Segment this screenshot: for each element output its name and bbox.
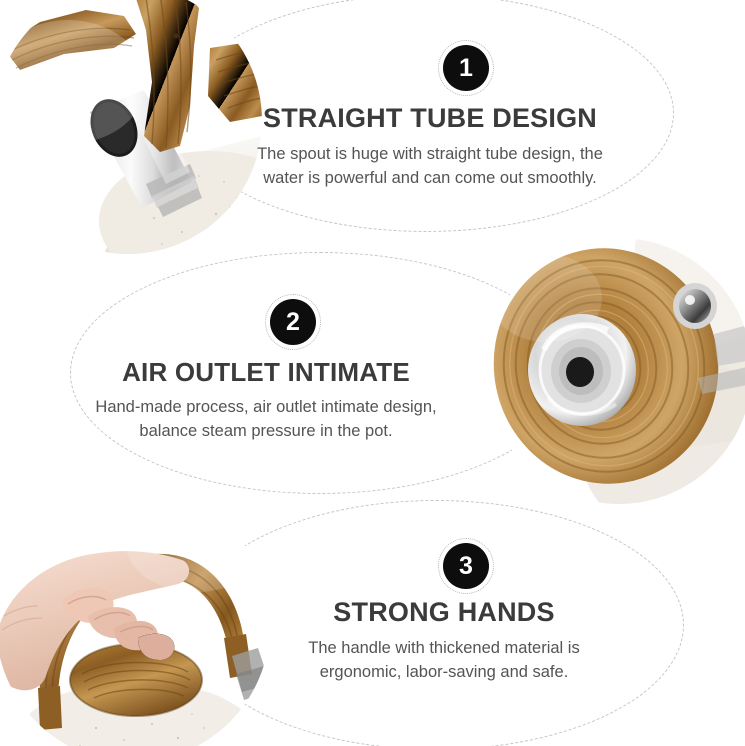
kettle-air-outlet-photo [486,238,745,504]
badge-number: 1 [443,45,489,91]
feature-3-description: The handle with thickened material is er… [258,637,630,685]
feature-3-text-block: STRONG HANDS The handle with thickened m… [258,598,630,685]
feature-1-text-block: STRAIGHT TUBE DESIGN The spout is huge w… [244,104,616,191]
product-feature-infographic: 1 2 3 STRAIGHT TUBE DESIGN The spout is … [0,0,745,746]
feature-1-description-line-1: The spout is huge with straight tube des… [257,145,603,163]
feature-3-number-badge: 3 [438,538,494,594]
feature-2-text-block: AIR OUTLET INTIMATE Hand-made process, a… [70,358,462,443]
feature-1-description-line-2: water is powerful and can come out smoot… [263,169,597,187]
feature-1-number-badge: 1 [438,40,494,96]
feature-2-description: Hand-made process, air outlet intimate d… [70,396,462,444]
feature-2-description-line-2: balance steam pressure in the pot. [139,422,392,440]
feature-3-title: STRONG HANDS [258,598,630,628]
feature-1-title: STRAIGHT TUBE DESIGN [244,104,616,134]
badge-number: 3 [443,543,489,589]
feature-1-description: The spout is huge with straight tube des… [244,143,616,191]
kettle-spout-photo [0,0,262,254]
feature-3-description-line-2: ergonomic, labor-saving and safe. [320,663,569,681]
feature-2-number-badge: 2 [265,294,321,350]
feature-2-description-line-1: Hand-made process, air outlet intimate d… [95,398,436,416]
feature-3-description-line-1: The handle with thickened material is [308,639,579,657]
badge-number: 2 [270,299,316,345]
feature-2-title: AIR OUTLET INTIMATE [70,358,462,387]
kettle-handle-grip-photo [0,488,270,746]
